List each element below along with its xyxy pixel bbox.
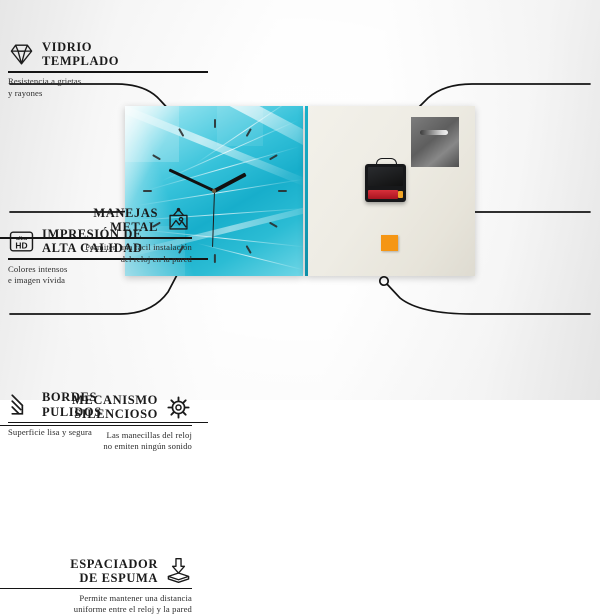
feature-divider: [0, 588, 192, 590]
feature-desc-line2: uniforme entre el reloj y la pared: [0, 604, 192, 615]
diamond-icon: [8, 41, 35, 68]
feature-divider: [8, 71, 208, 73]
feature-title: VIDRIO TEMPLADO: [42, 40, 119, 68]
foam-spacer: [381, 235, 398, 251]
clock-tick: [214, 254, 216, 263]
mechanism-body: [368, 167, 403, 186]
clock-tick: [246, 245, 252, 254]
mechanism-hang-loop: [376, 158, 397, 167]
feature-desc-line1: Las manecillas del reloj: [0, 430, 192, 441]
clock-hour-hand: [213, 173, 246, 193]
feature-header: VIDRIO TEMPLADO: [8, 40, 208, 68]
picture-frame-hanging-icon: [165, 207, 192, 234]
feature-description: Las manecillas del reloj no emiten ningú…: [0, 430, 192, 453]
feature-description: Permite mantener una distancia uniforme …: [0, 593, 192, 616]
battery: [368, 190, 398, 199]
feature-title: MANEJAS METAL: [93, 206, 158, 234]
clock-tick: [278, 190, 287, 192]
feature-mecanismo-silencioso: MECANISMO SILENCIOSO Las manecillas del …: [0, 393, 192, 452]
feature-header: ESPACIADOR DE ESPUMA: [0, 557, 192, 585]
clock-tick: [152, 154, 161, 160]
feature-title-line1: MANEJAS: [93, 206, 158, 220]
clock-tick: [269, 222, 278, 228]
metal-hanger-plate: [411, 117, 459, 167]
feature-title-line1: ESPACIADOR: [70, 557, 158, 571]
feature-desc-line1: Permite mantener una distancia: [0, 593, 192, 604]
feature-title: ESPACIADOR DE ESPUMA: [70, 557, 158, 585]
feature-description: Permiten una fácil instalación del reloj…: [0, 242, 192, 265]
feature-vidrio-templado: VIDRIO TEMPLADO Resistencia a grietas y …: [8, 40, 208, 99]
foam-spacer-icon: [165, 557, 192, 584]
feature-desc-line1: Resistencia a grietas: [8, 76, 208, 87]
clock-tick: [246, 128, 252, 137]
clock-tick: [143, 190, 152, 192]
connector-path-right-3: [386, 283, 590, 314]
hanger-slot: [420, 130, 448, 135]
gear-icon: [165, 394, 192, 421]
feature-desc-line2: y rayones: [8, 88, 208, 99]
feature-desc-line2: del reloj en la pared: [0, 254, 192, 265]
feature-divider: [0, 425, 192, 427]
feature-title: MECANISMO SILENCIOSO: [72, 393, 158, 421]
feature-desc-line1: Permiten una fácil instalación: [0, 242, 192, 253]
feature-espaciador-espuma: ESPACIADOR DE ESPUMA Permite mantener un…: [0, 557, 192, 616]
feature-desc-line2: no emiten ningún sonido: [0, 441, 192, 452]
infographic-canvas: VIDRIO TEMPLADO Resistencia a grietas y …: [0, 0, 600, 400]
clock-center-cap: [212, 189, 216, 193]
feature-desc-line2: e imagen vívida: [8, 275, 208, 286]
feature-title-line1: VIDRIO: [42, 40, 119, 54]
battery-terminal: [398, 191, 403, 198]
feature-header: MECANISMO SILENCIOSO: [0, 393, 192, 421]
feature-title-line2: SILENCIOSO: [72, 407, 158, 421]
clock-tick: [269, 154, 278, 160]
connector-dot-right-3: [380, 277, 388, 285]
feature-manejas-metal: MANEJAS METAL Permiten una fácil instala…: [0, 206, 192, 265]
feature-header: MANEJAS METAL: [0, 206, 192, 234]
clock-tick: [178, 128, 184, 137]
feature-title-line2: METAL: [93, 220, 158, 234]
clock-minute-hand: [168, 169, 215, 193]
clock-back-panel: [305, 106, 475, 276]
feature-title-line2: DE ESPUMA: [70, 571, 158, 585]
feature-title-line2: TEMPLADO: [42, 54, 119, 68]
feature-description: Colores intensos e imagen vívida: [8, 264, 208, 287]
feature-title-line1: MECANISMO: [72, 393, 158, 407]
clock-tick: [214, 119, 216, 128]
clock-second-hand: [212, 191, 215, 247]
feature-description: Resistencia a grietas y rayones: [8, 76, 208, 99]
clock-mechanism: [365, 164, 406, 202]
feature-divider: [0, 237, 192, 239]
